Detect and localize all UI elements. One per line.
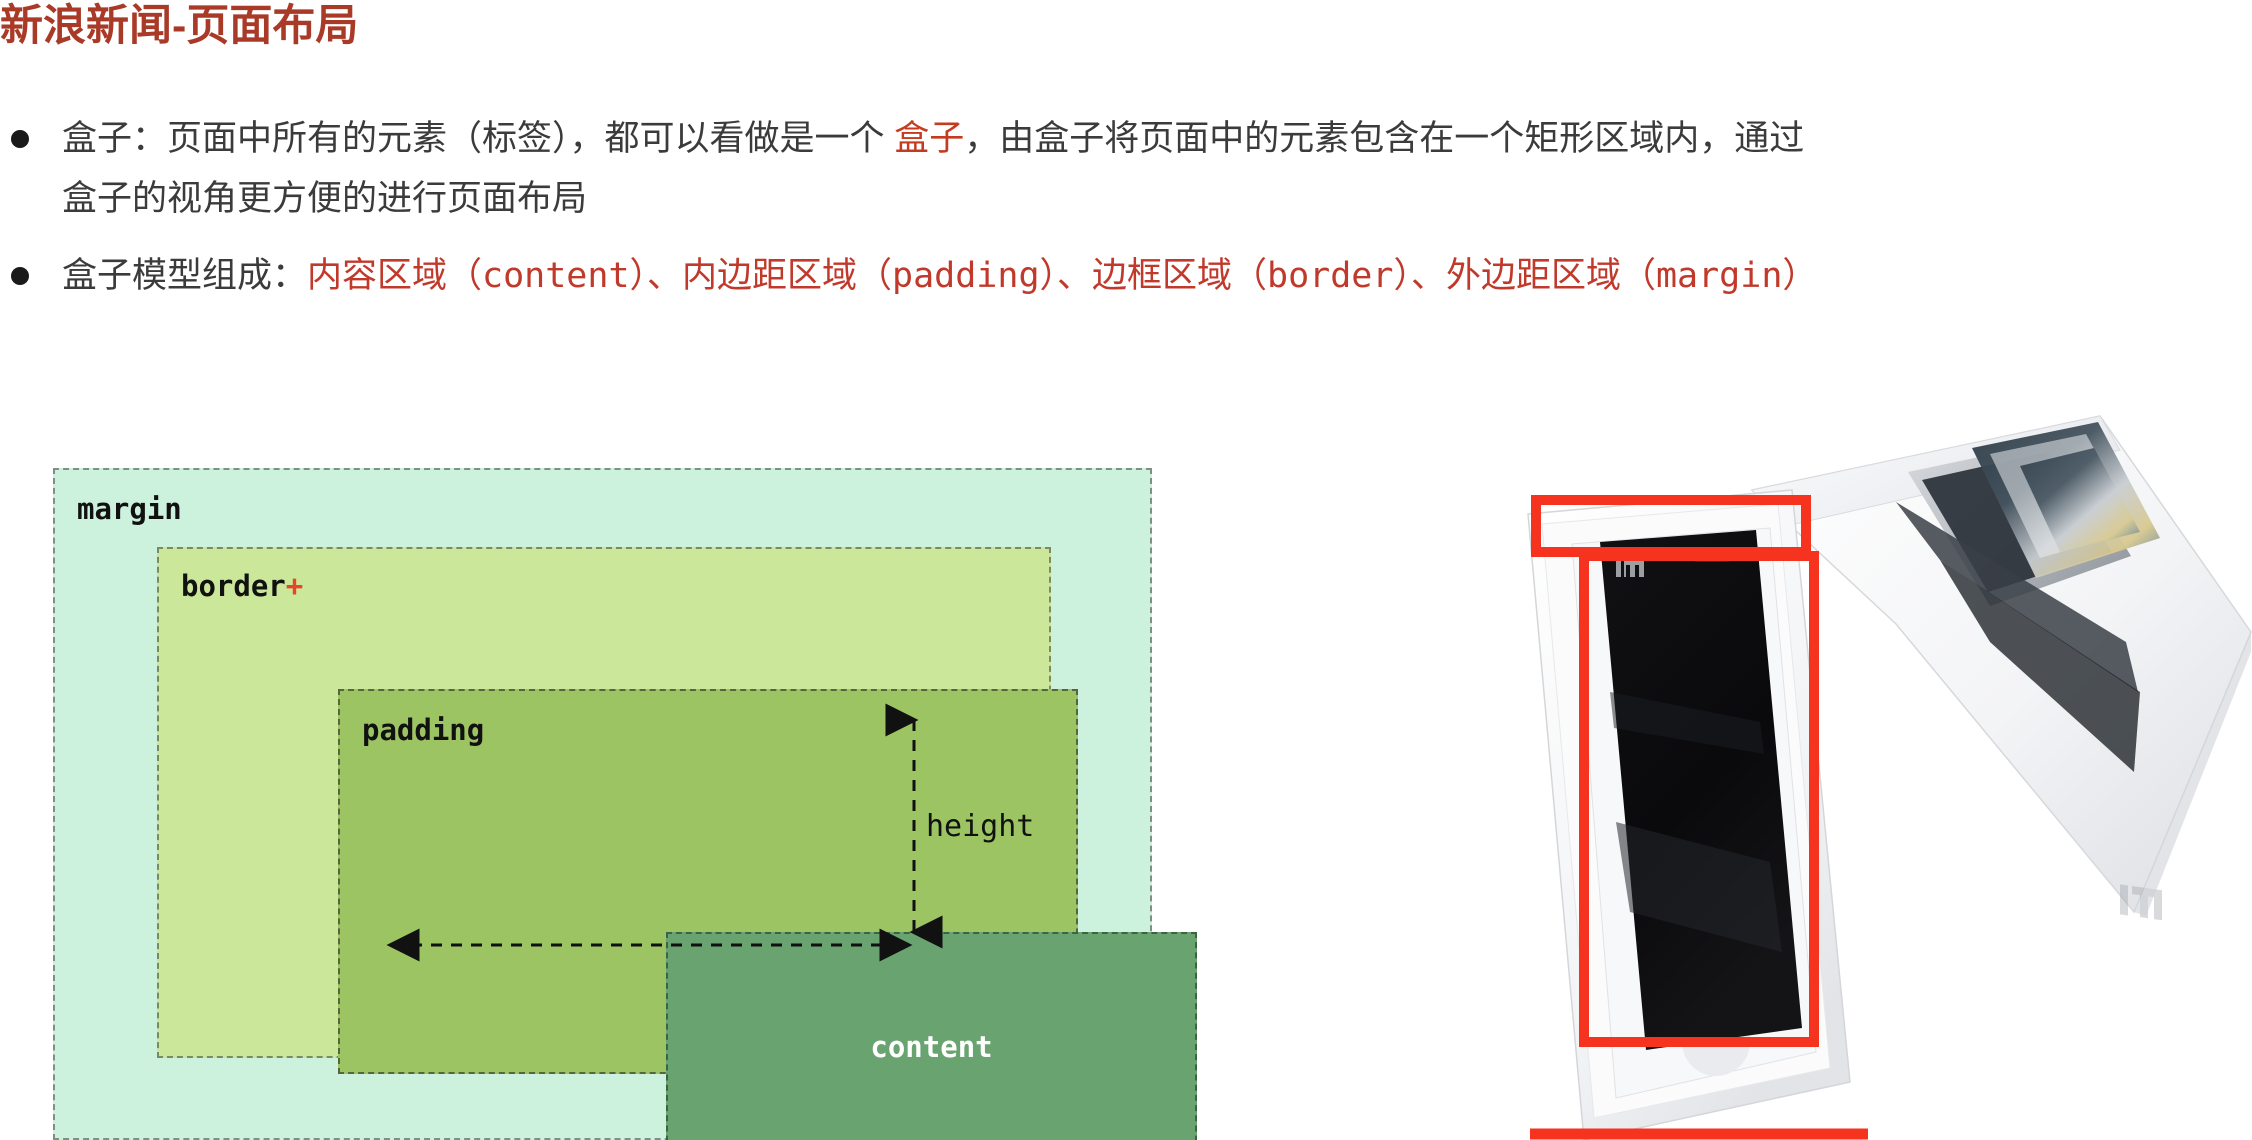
plus-icon: + (286, 569, 303, 603)
page-title: 新浪新闻-页面布局 (0, 2, 358, 51)
padding-label: padding (362, 713, 484, 747)
bullet-1-line-1: 盒子：页面中所有的元素（标签），都可以看做是一个 盒子，由盒子将页面中的元素包含… (62, 112, 2252, 166)
list-item: 盒子：页面中所有的元素（标签），都可以看做是一个 盒子，由盒子将页面中的元素包含… (0, 112, 2252, 227)
list-item: 盒子模型组成：内容区域（content）、内边距区域（padding）、边框区域… (0, 249, 2252, 303)
bullet-2-highlight: 内容区域（content）、内边距区域（padding）、边框区域（border… (307, 256, 1817, 296)
margin-label: margin (77, 492, 182, 526)
mi-logo-icon (1616, 560, 1644, 577)
border-label: border+ (181, 569, 303, 603)
margin-box: margin border+ padding content (53, 468, 1152, 1140)
bullet-2-text-a: 盒子模型组成： (62, 256, 307, 295)
content-label: content (668, 1030, 1195, 1064)
bullet-1-text-b: ，由盒子将页面中的元素包含在一个矩形区域内，通过 (964, 119, 1804, 158)
height-label: height (926, 809, 1034, 844)
xiaomi-phone-box-photo (1520, 392, 2252, 1140)
bullet-dot-icon (11, 130, 29, 148)
bullet-1-line-2: 盒子的视角更方便的进行页面布局 (62, 172, 2252, 226)
bullet-dot-icon (11, 267, 29, 285)
content-box: content (666, 932, 1197, 1140)
padding-box: padding content (338, 689, 1078, 1074)
bullet-1-text-a: 盒子：页面中所有的元素（标签），都可以看做是一个 (62, 119, 894, 158)
bullet-list: 盒子：页面中所有的元素（标签），都可以看做是一个 盒子，由盒子将页面中的元素包含… (0, 112, 2252, 303)
box-model-diagram: margin border+ padding content (53, 468, 1152, 1140)
border-label-text: border (181, 569, 286, 603)
bullet-2-line-1: 盒子模型组成：内容区域（content）、内边距区域（padding）、边框区域… (62, 249, 2252, 303)
bullet-1-highlight: 盒子 (894, 119, 964, 158)
border-box: border+ padding content (157, 547, 1051, 1058)
